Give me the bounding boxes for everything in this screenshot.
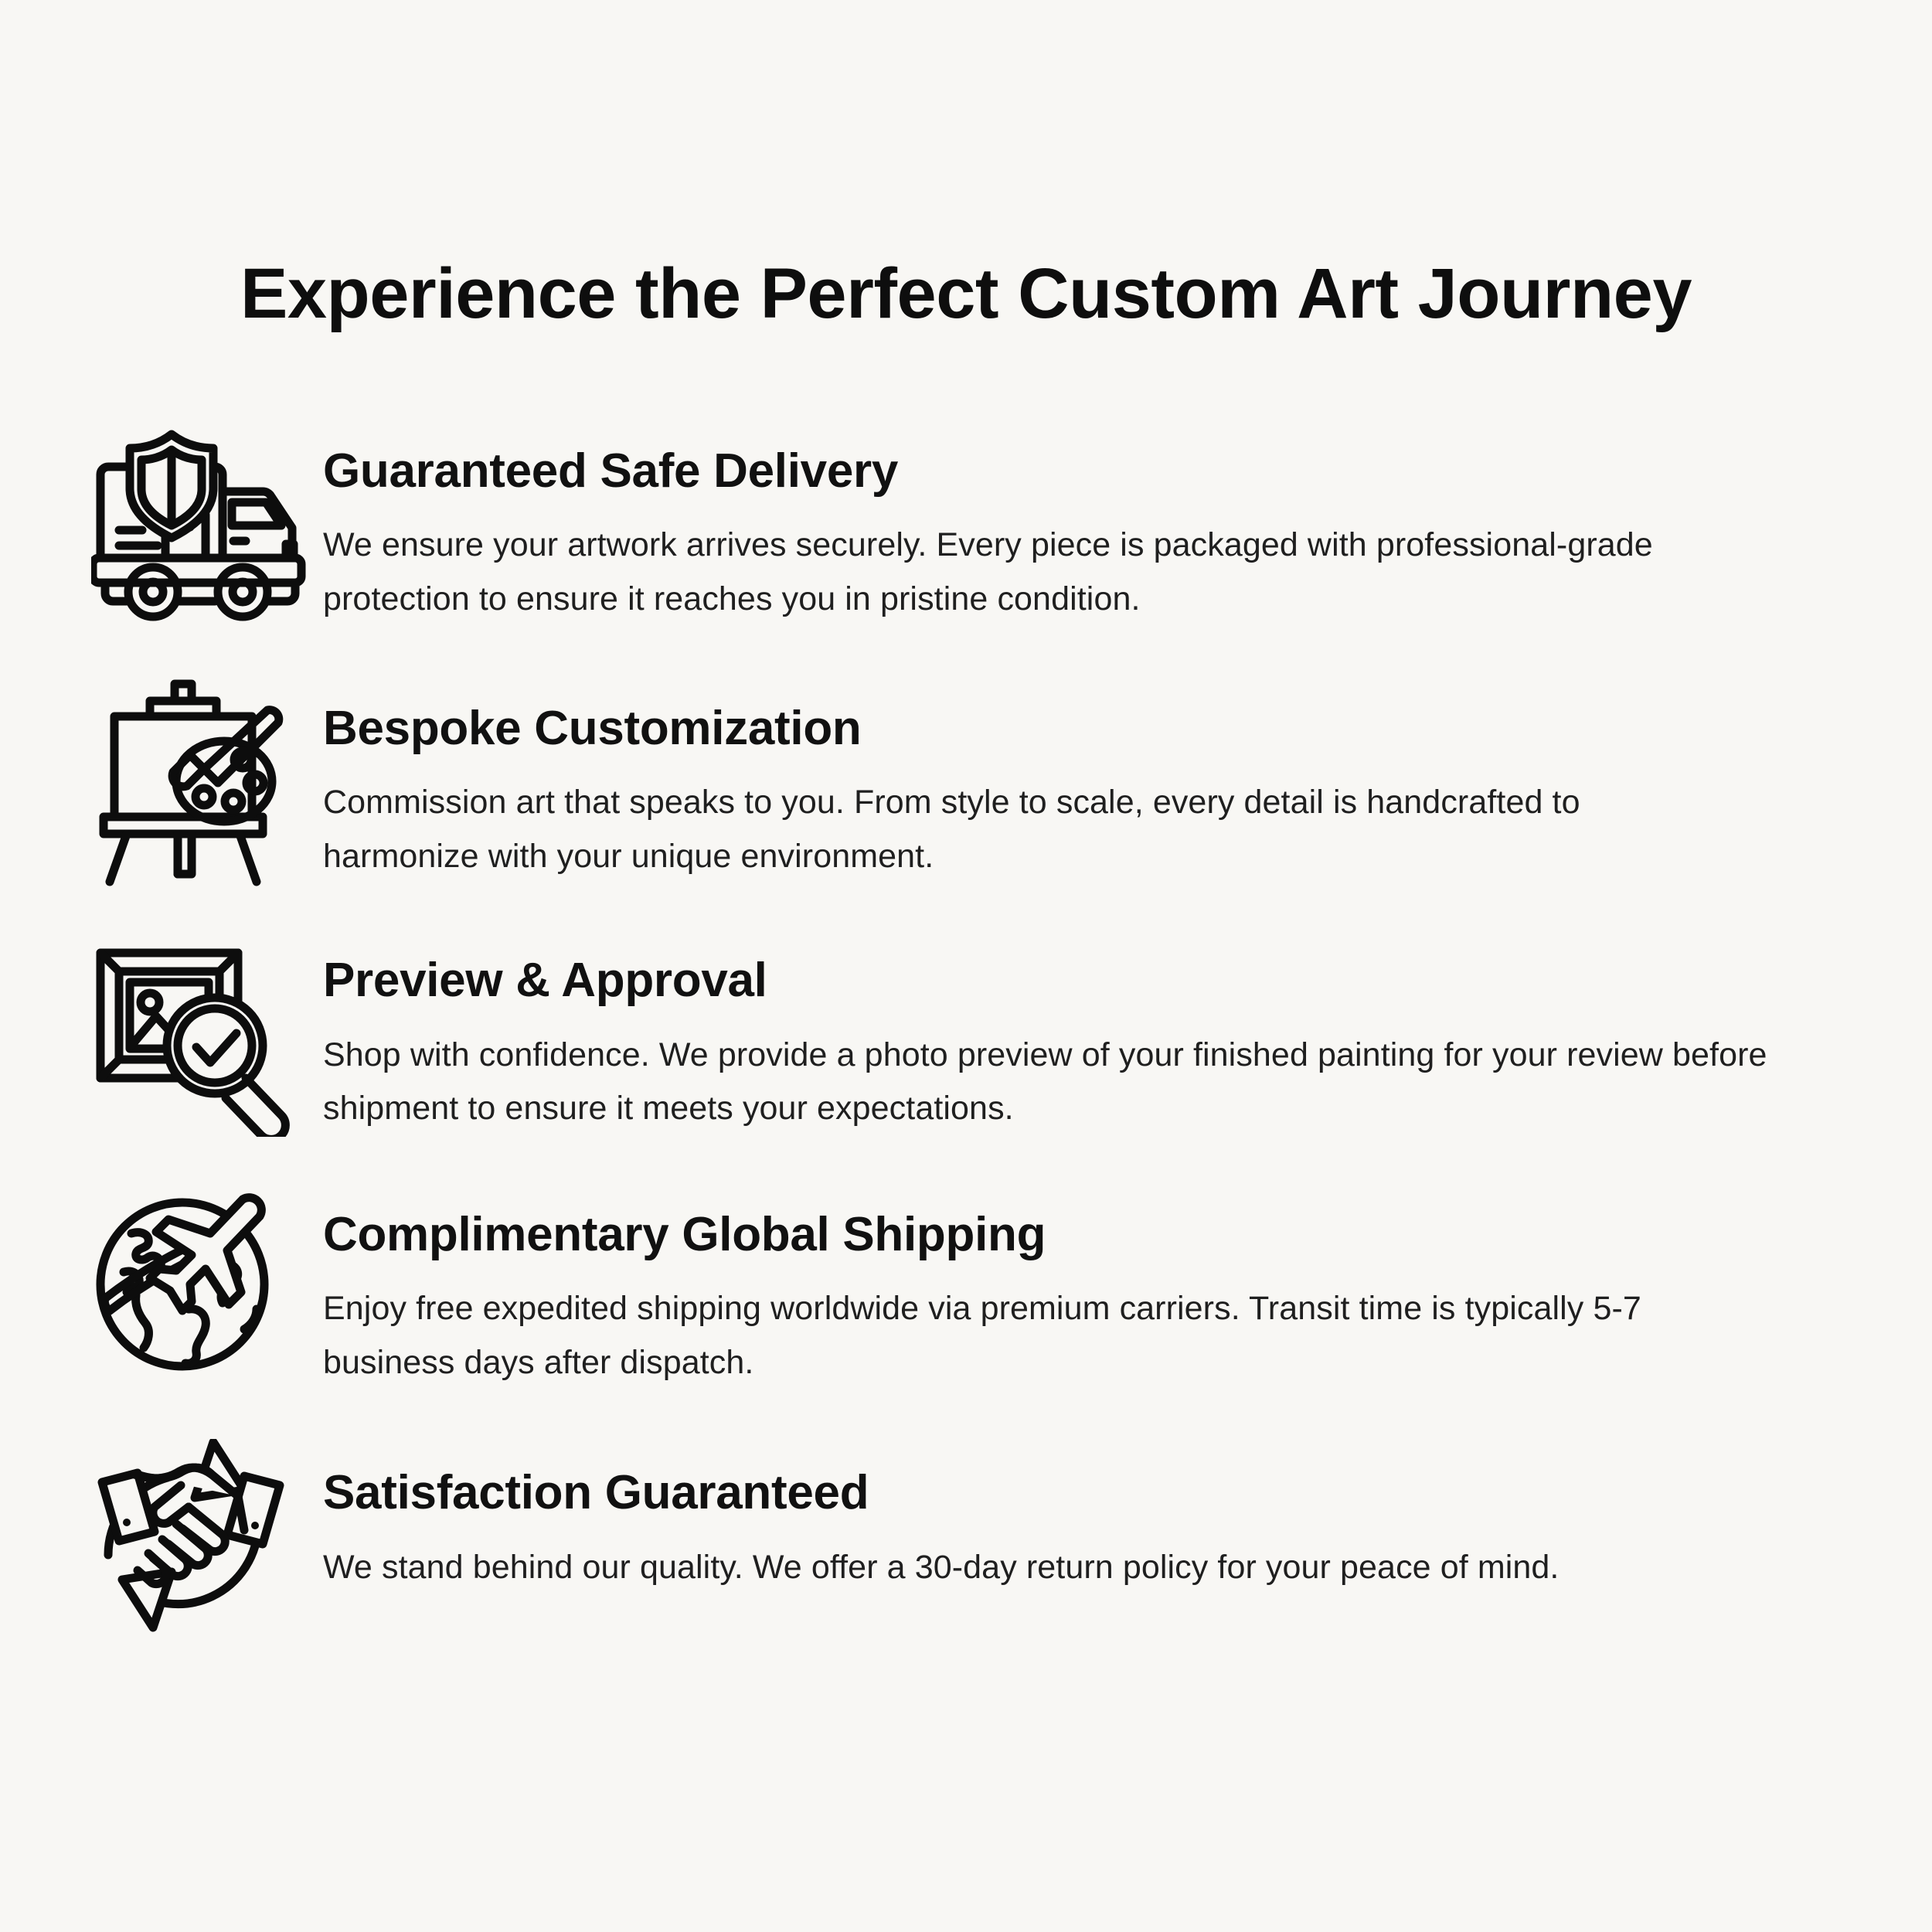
feature-title: Bespoke Customization — [323, 701, 1839, 756]
feature-text-block: Guaranteed Safe Delivery We ensure your … — [323, 423, 1932, 627]
feature-text-block: Preview & Approval Shop with confidence.… — [323, 930, 1932, 1136]
globe-airplane-icon — [91, 1181, 323, 1380]
handshake-refresh-arrows-icon — [91, 1434, 323, 1634]
feature-description: Commission art that speaks to you. From … — [323, 776, 1706, 883]
feature-text-block: Complimentary Global Shipping Enjoy free… — [323, 1181, 1932, 1390]
feature-title: Preview & Approval — [323, 953, 1839, 1008]
feature-item-bespoke-customization: Bespoke Customization Commission art tha… — [0, 675, 1932, 884]
feature-title: Guaranteed Safe Delivery — [323, 444, 1839, 498]
feature-description: Enjoy free expedited shipping worldwide … — [323, 1282, 1737, 1389]
feature-description: Shop with confidence. We provide a photo… — [323, 1029, 1776, 1136]
framed-picture-magnifier-check-icon — [91, 930, 323, 1129]
feature-list: Guaranteed Safe Delivery We ensure your … — [0, 423, 1932, 1634]
feature-item-preview-approval: Preview & Approval Shop with confidence.… — [0, 930, 1932, 1136]
delivery-truck-shield-icon — [91, 423, 323, 623]
feature-item-satisfaction-guaranteed: Satisfaction Guaranteed We stand behind … — [0, 1434, 1932, 1634]
feature-description: We stand behind our quality. We offer a … — [323, 1541, 1776, 1595]
feature-text-block: Satisfaction Guaranteed We stand behind … — [323, 1434, 1932, 1594]
feature-title: Complimentary Global Shipping — [323, 1207, 1839, 1262]
page-title: Experience the Perfect Custom Art Journe… — [0, 255, 1932, 333]
feature-item-global-shipping: Complimentary Global Shipping Enjoy free… — [0, 1181, 1932, 1390]
feature-item-safe-delivery: Guaranteed Safe Delivery We ensure your … — [0, 423, 1932, 627]
feature-description: We ensure your artwork arrives securely.… — [323, 519, 1706, 626]
feature-text-block: Bespoke Customization Commission art tha… — [323, 675, 1932, 884]
easel-palette-brush-icon — [91, 675, 323, 874]
custom-art-benefits-page: Experience the Perfect Custom Art Journe… — [0, 0, 1932, 1932]
feature-title: Satisfaction Guaranteed — [323, 1465, 1839, 1520]
